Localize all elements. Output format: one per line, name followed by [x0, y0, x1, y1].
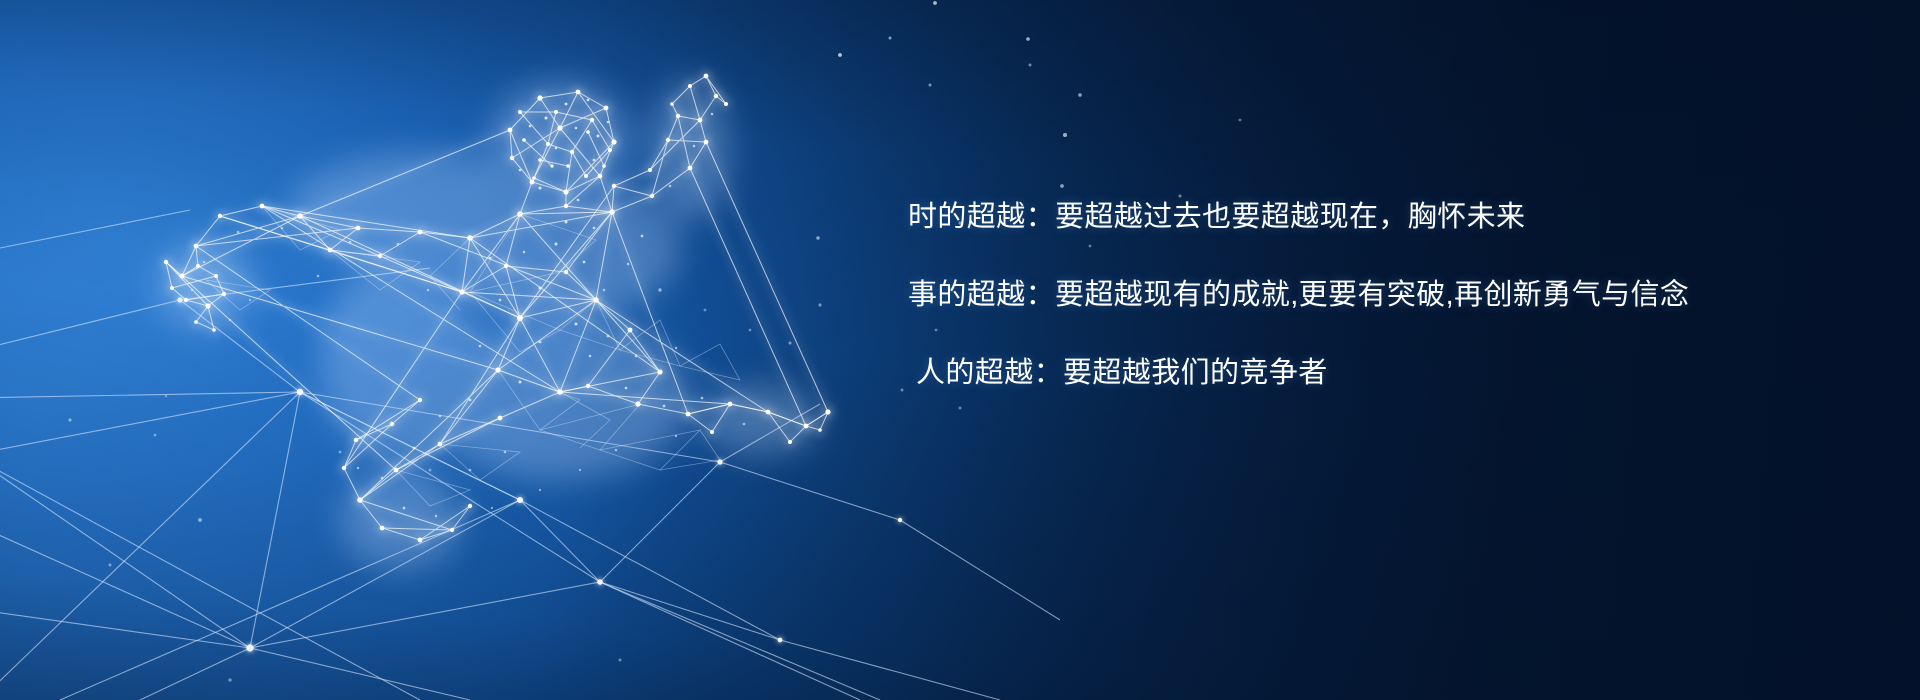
slogan-line-3: 人的超越：要超越我们的竞争者: [908, 334, 1668, 412]
slogan-line-1: 时的超越：要超越过去也要超越现在，胸怀未来: [908, 178, 1668, 256]
hero-banner: 时的超越：要超越过去也要超越现在，胸怀未来 事的超越：要超越现有的成就,更要有突…: [0, 0, 1920, 700]
slogan-line-2: 事的超越：要超越现有的成就,更要有突破,再创新勇气与信念: [908, 256, 1668, 334]
slogan-text-block: 时的超越：要超越过去也要超越现在，胸怀未来 事的超越：要超越现有的成就,更要有突…: [908, 178, 1668, 412]
